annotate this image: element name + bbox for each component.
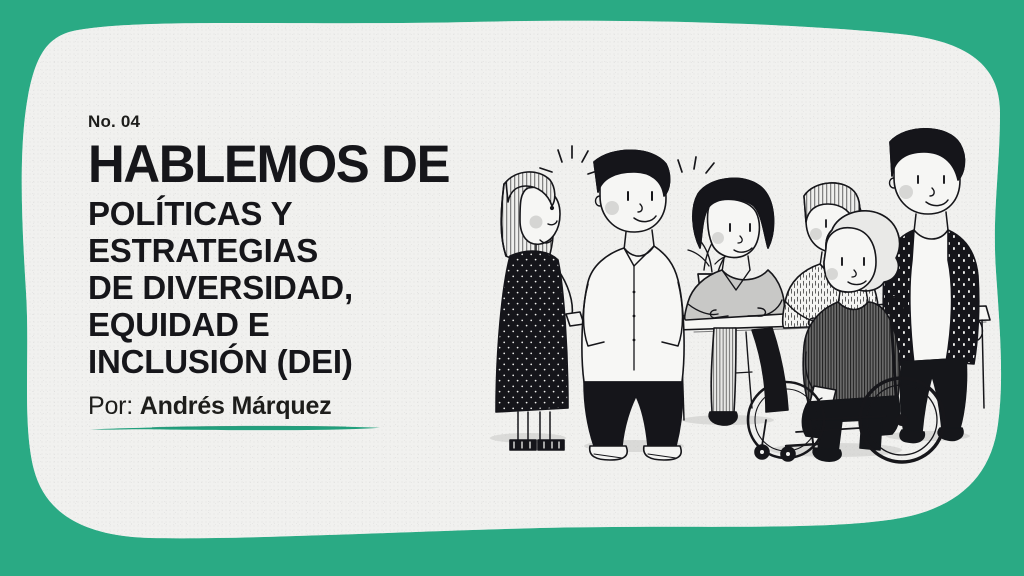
subtitle-line-4: EQUIDAD E xyxy=(88,307,478,344)
byline-prefix: Por: xyxy=(88,392,140,420)
page-subtitle: POLÍTICAS Y ESTRATEGIAS DE DIVERSIDAD, E… xyxy=(88,196,478,381)
figure-man-standing-center xyxy=(582,150,684,460)
slide-canvas: No. 04 HABLEMOS DE POLÍTICAS Y ESTRATEGI… xyxy=(0,0,1024,576)
subtitle-line-2: ESTRATEGIAS xyxy=(88,233,478,270)
page-title: HABLEMOS DE xyxy=(88,139,462,190)
author-name: Andrés Márquez xyxy=(140,392,332,420)
subtitle-line-1: POLÍTICAS Y xyxy=(88,196,478,233)
text-column: No. 04 HABLEMOS DE POLÍTICAS Y ESTRATEGI… xyxy=(88,112,478,434)
subtitle-line-5: INCLUSIÓN (DEI) xyxy=(88,344,478,381)
illustration-artwork xyxy=(466,120,1006,470)
byline-block: Por: Andrés Márquez xyxy=(88,392,388,434)
slide-number-kicker: No. 04 xyxy=(88,112,478,132)
brush-underline-icon xyxy=(88,423,383,434)
author-byline: Por: Andrés Márquez xyxy=(88,392,388,421)
figure-woman-standing-left xyxy=(496,172,584,450)
figure-woman-seated-bob xyxy=(685,178,785,320)
illustration-people-meeting xyxy=(466,120,1006,470)
subtitle-line-3: DE DIVERSIDAD, xyxy=(88,270,478,307)
